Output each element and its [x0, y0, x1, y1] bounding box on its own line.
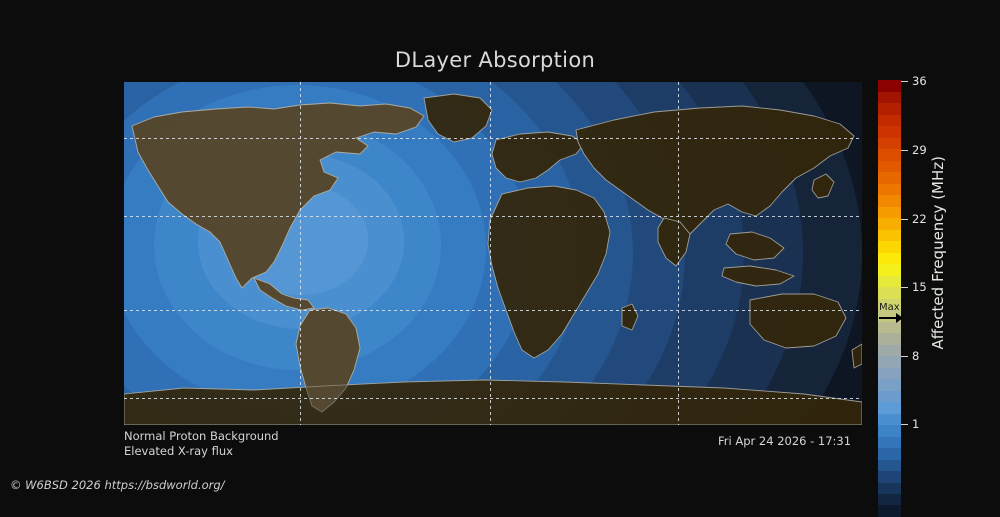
landmass-europe: [492, 132, 584, 182]
colorbar-band: [878, 471, 901, 483]
colorbar-band: [878, 425, 901, 437]
colorbar-tick: [901, 150, 908, 151]
colorbar-band: [878, 322, 901, 334]
status-caption: Normal Proton Background Elevated X-ray …: [124, 429, 279, 459]
landmass-australia: [750, 294, 846, 348]
colorbar-tick: [901, 287, 908, 288]
colorbar-band: [878, 264, 901, 276]
timestamp-label: Fri Apr 24 2026 - 17:31: [718, 434, 851, 448]
colorbar-tick-label: 36: [912, 74, 927, 88]
world-map[interactable]: [124, 82, 862, 425]
colorbar-band: [878, 138, 901, 150]
landmass-madagascar: [622, 304, 638, 330]
colorbar-band: [878, 241, 901, 253]
status-xray-flux: Elevated X-ray flux: [124, 444, 279, 459]
colorbar-band: [878, 103, 901, 115]
colorbar-tick: [901, 356, 908, 357]
colorbar-band: [878, 448, 901, 460]
colorbar[interactable]: [878, 80, 901, 425]
colorbar-tick: [901, 219, 908, 220]
colorbar-tick: [901, 81, 908, 82]
landmass-north-america-daylit: [132, 103, 424, 288]
colorbar-tick-label: 1: [912, 417, 919, 431]
colorbar-band: [878, 505, 901, 517]
colorbar-band: [878, 80, 901, 92]
colorbar-tick: [901, 424, 908, 425]
app-root: DLayer Absorption: [0, 0, 1000, 500]
copyright-footer: © W6BSD 2026 https://bsdworld.org/: [10, 478, 225, 492]
colorbar-band: [878, 437, 901, 449]
colorbar-band: [878, 460, 901, 472]
colorbar-band: [878, 230, 901, 242]
page-title: DLayer Absorption: [0, 48, 990, 72]
colorbar-band: [878, 333, 901, 345]
colorbar-band: [878, 483, 901, 495]
landmass-new-zealand: [852, 344, 862, 368]
colorbar-band: [878, 402, 901, 414]
colorbar-band: [878, 115, 901, 127]
colorbar-band: [878, 184, 901, 196]
colorbar-tick-label: 15: [912, 280, 927, 294]
colorbar-band: [878, 172, 901, 184]
landmass-antarctica: [124, 380, 862, 425]
colorbar-band: [878, 218, 901, 230]
landmass-japan: [812, 174, 834, 198]
colorbar-band: [878, 92, 901, 104]
colorbar-band: [878, 207, 901, 219]
colorbar-band: [878, 276, 901, 288]
landmass-southeast-asia: [726, 232, 784, 260]
colorbar-tick-label: 29: [912, 143, 927, 157]
colorbar-band: [878, 161, 901, 173]
status-proton-background: Normal Proton Background: [124, 429, 279, 444]
landmass-central-america-daylit: [254, 278, 314, 310]
colorbar-tick-label: 22: [912, 212, 927, 226]
colorbar-band: [878, 356, 901, 368]
colorbar-axis-label: Affected Frequency (MHz): [929, 80, 947, 425]
landmass-asia: [576, 106, 854, 234]
colorbar-band: [878, 368, 901, 380]
colorbar-band: [878, 414, 901, 426]
colorbar-axis-label-text: Affected Frequency (MHz): [929, 156, 947, 350]
colorbar-band: [878, 379, 901, 391]
colorbar-band: [878, 149, 901, 161]
landmass-greenland: [424, 94, 492, 142]
landmass-africa: [488, 186, 610, 358]
colorbar-band: [878, 253, 901, 265]
colorbar-band: [878, 287, 901, 299]
colorbar-band: [878, 195, 901, 207]
colorbar-tick-label: 8: [912, 349, 919, 363]
colorbar-band: [878, 126, 901, 138]
colorbar-band: [878, 391, 901, 403]
coastlines-layer: [124, 82, 862, 425]
landmass-indonesia: [722, 266, 794, 286]
colorbar-band: [878, 345, 901, 357]
